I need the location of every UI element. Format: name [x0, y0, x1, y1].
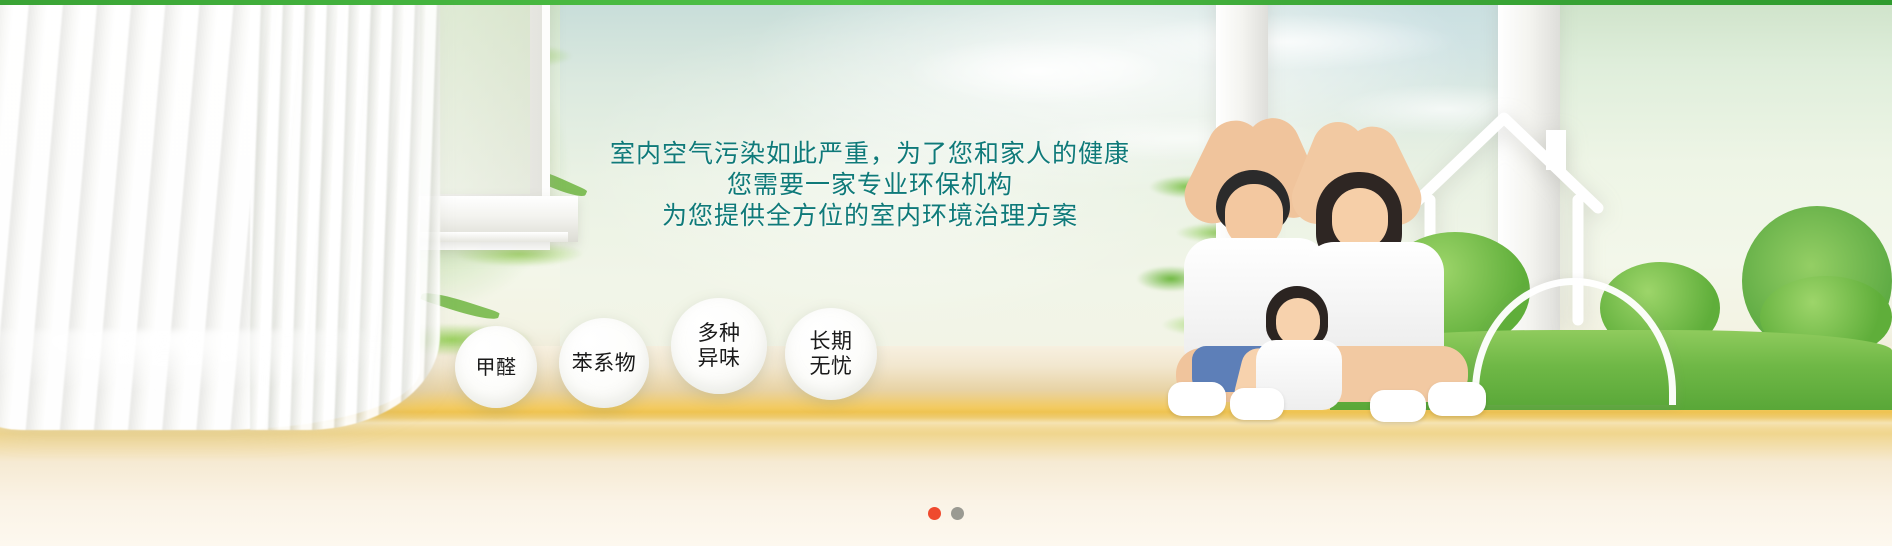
hero-banner: 室内空气污染如此严重，为了您和家人的健康 您需要一家专业环保机构 为您提供全方位… [0, 0, 1892, 546]
figure-part [1276, 298, 1320, 346]
bubble-label-line2: 无忧 [810, 354, 853, 379]
top-accent-bar [0, 0, 1892, 5]
banner-headline: 室内空气污染如此严重，为了您和家人的健康 您需要一家专业环保机构 为您提供全方位… [560, 138, 1180, 231]
feature-bubble-longterm[interactable]: 长期 无忧 [785, 308, 877, 400]
figure-part [1428, 382, 1486, 416]
headline-line-1: 室内空气污染如此严重，为了您和家人的健康 [560, 138, 1180, 169]
bubble-label-line1: 甲醛 [476, 355, 517, 380]
feature-bubble-formaldehyde[interactable]: 甲醛 [455, 326, 537, 408]
headline-line-2: 您需要一家专业环保机构 [560, 169, 1180, 200]
carousel-dot-2[interactable] [951, 507, 964, 520]
carousel-dot-1[interactable] [928, 507, 941, 520]
bubble-label-line2: 异味 [698, 346, 741, 371]
feature-bubble-benzene[interactable]: 苯系物 [559, 318, 649, 408]
figure-part [1370, 390, 1426, 422]
bubble-label-line1: 多种 [698, 321, 741, 346]
bubble-label-line1: 长期 [810, 329, 853, 354]
feature-bubble-odors[interactable]: 多种 异味 [671, 298, 767, 394]
figure-part [1168, 382, 1226, 416]
curtain-hem [0, 330, 420, 440]
carousel-indicators [0, 507, 1892, 520]
figure-part [1332, 188, 1388, 250]
headline-line-3: 为您提供全方位的室内环境治理方案 [560, 200, 1180, 231]
bubble-label-line1: 苯系物 [572, 351, 637, 376]
figure-part [1230, 388, 1284, 420]
